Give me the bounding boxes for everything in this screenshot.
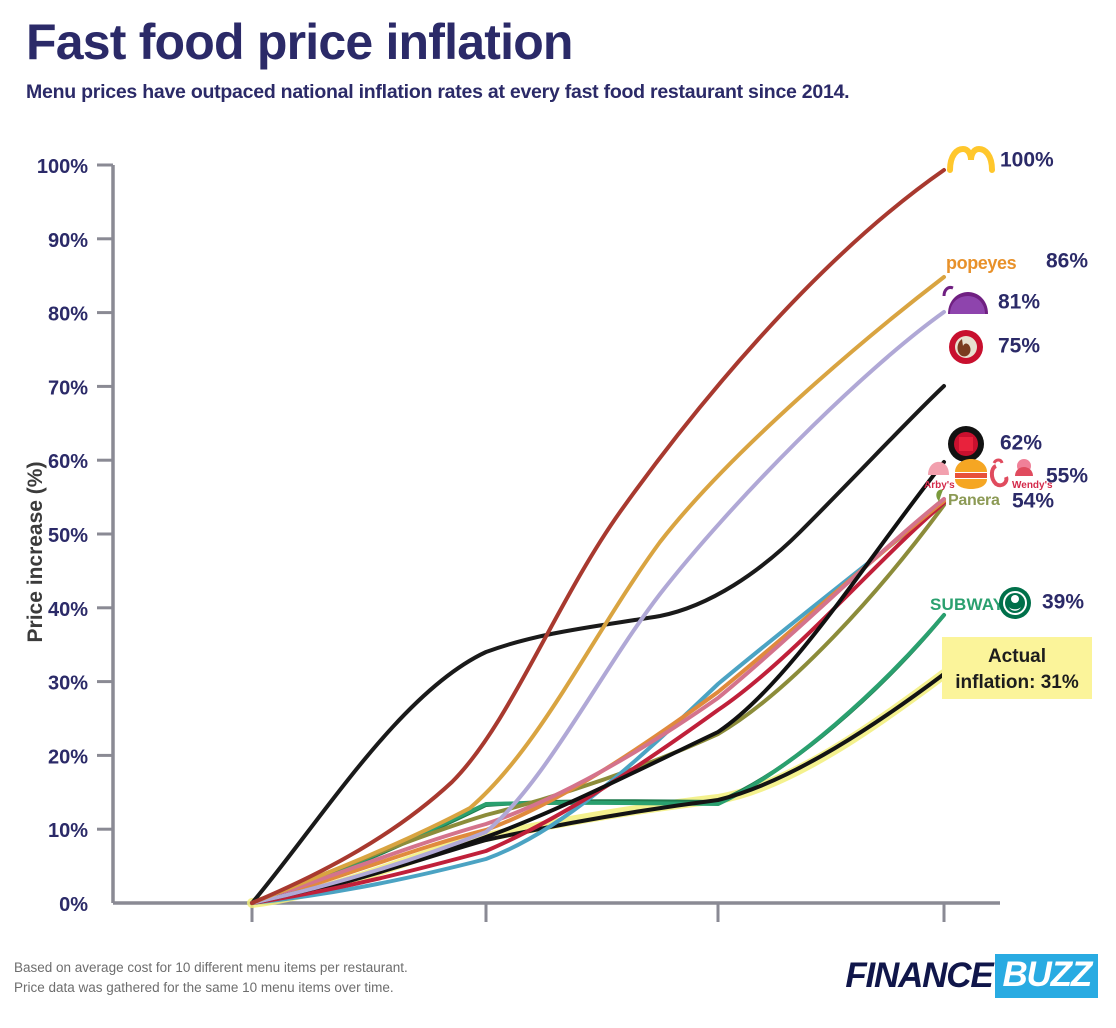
footnote-line-2: Price data was gathered for the same 10 … (14, 978, 408, 998)
footer: Based on average cost for 10 different m… (14, 954, 1102, 1014)
svg-text:Panera: Panera (948, 492, 1000, 509)
ytick-70: 70% (48, 377, 88, 399)
series-line-chickfila (252, 503, 944, 903)
actual-inflation-line1: Actual (988, 646, 1046, 667)
jack-in-the-box-circle-icon (948, 426, 984, 462)
line-chart-svg: 100% 90% 80% 70% 60% 50% 40% 30% 20% 1 (0, 132, 1116, 932)
value-label-subway-starbucks: 39% (1042, 591, 1084, 614)
footnote-line-1: Based on average cost for 10 different m… (14, 958, 408, 978)
series-line-panera (252, 505, 944, 903)
xtick-2014: 2014 (226, 931, 277, 932)
financebuzz-logo: FINANCE BUZZ (845, 954, 1098, 998)
actual-inflation-callout: Actual inflation: 31% (942, 637, 1092, 699)
endpoint-kfc: 75% (949, 330, 1040, 364)
value-label-taco-bell: 81% (998, 291, 1040, 314)
arbys-hat-icon: Arby's (924, 462, 955, 491)
xtick-2019: 2019 (460, 931, 511, 932)
starbucks-siren-icon (999, 587, 1031, 619)
ytick-10: 10% (48, 820, 88, 842)
subway-wordmark-icon: SUBWAY (930, 595, 1005, 614)
endpoint-subway-starbucks: SUBWAY 39% (930, 587, 1084, 619)
header: Fast food price inflation Menu prices ha… (26, 16, 1090, 104)
series-line-burgerking (252, 501, 944, 903)
page-subtitle: Menu prices have outpaced national infla… (26, 81, 1090, 104)
chart-area: 100% 90% 80% 70% 60% 50% 40% 30% 20% 1 (0, 132, 1116, 932)
ytick-20: 20% (48, 746, 88, 768)
ytick-100: 100% (37, 156, 88, 178)
brand-finance-text: FINANCE (845, 956, 992, 996)
value-label-panera: 54% (1012, 490, 1054, 513)
endpoint-jack-in-the-box: 62% (948, 426, 1042, 462)
endpoint-mcdonalds: 100% (950, 149, 1054, 172)
value-label-popeyes: 86% (1046, 250, 1088, 273)
footnote: Based on average cost for 10 different m… (14, 958, 408, 999)
xtick-2024: 2024 (918, 931, 969, 932)
brand-buzz-text: BUZZ (995, 954, 1098, 998)
infographic-root: Fast food price inflation Menu prices ha… (0, 0, 1116, 1028)
endpoint-taco-bell: 81% (944, 287, 1040, 314)
series-line-arbys (252, 499, 944, 903)
ytick-60: 60% (48, 451, 88, 473)
series-lines-group (252, 170, 944, 903)
actual-inflation-line2: inflation: 31% (955, 672, 1079, 693)
chick-fil-a-icon (992, 460, 1007, 485)
series-line-kfc (252, 386, 944, 903)
kfc-circle-icon (949, 330, 983, 364)
mcdonalds-arches-icon (950, 149, 992, 170)
ytick-30: 30% (48, 673, 88, 695)
x-axis-ticks: 2014 2019 2021 2024 (226, 903, 969, 932)
taco-bell-bell-icon (944, 287, 988, 314)
page-title: Fast food price inflation (26, 16, 1090, 69)
value-label-mcdonalds: 100% (1000, 149, 1054, 172)
endpoint-cluster-55: Arby's Wendy's (924, 459, 1088, 491)
value-label-kfc: 75% (998, 335, 1040, 358)
y-axis-ticks: 100% 90% 80% 70% 60% 50% 40% 30% 20% 1 (37, 156, 113, 916)
popeyes-wordmark-icon: popeyes (946, 253, 1017, 273)
y-axis-title: Price increase (%) (24, 462, 47, 643)
ytick-80: 80% (48, 304, 88, 326)
endpoint-popeyes: popeyes 86% (946, 250, 1088, 273)
svg-text:Arby's: Arby's (924, 480, 955, 491)
value-label-jack-in-the-box: 62% (1000, 432, 1042, 455)
ytick-0: 0% (59, 894, 88, 916)
ytick-50: 50% (48, 525, 88, 547)
ytick-90: 90% (48, 230, 88, 252)
endpoint-panera: Panera 54% (936, 490, 1054, 513)
xtick-2021: 2021 (692, 931, 743, 932)
ytick-40: 40% (48, 599, 88, 621)
series-line-wendys (252, 503, 944, 903)
value-label-cluster-55: 55% (1046, 465, 1088, 488)
burger-king-burger-icon (955, 459, 987, 489)
